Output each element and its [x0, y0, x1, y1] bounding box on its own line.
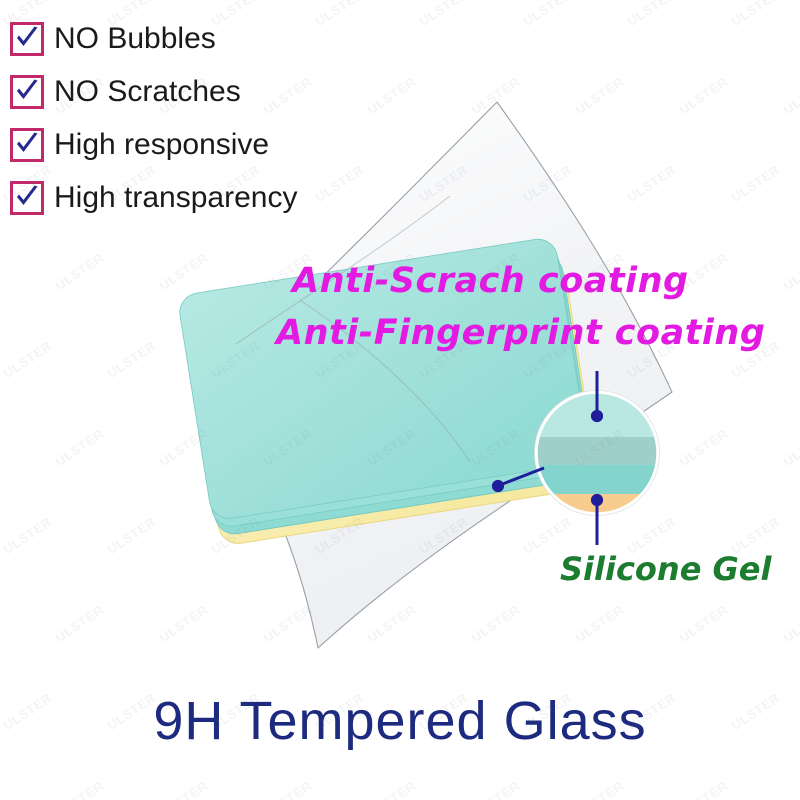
leader-dot-edge: [492, 480, 503, 491]
feature-item-2: High responsive: [10, 118, 297, 171]
checkmark-icon: [10, 128, 44, 162]
checkmark-icon: [10, 181, 44, 215]
magnifier-glass-band: [530, 437, 670, 465]
checkmark-icon: [10, 22, 44, 56]
product-graphic: NO Bubbles NO Scratches High responsive: [0, 0, 800, 800]
feature-label: NO Bubbles: [54, 24, 216, 54]
magnifier-cross-section: [530, 385, 670, 554]
feature-label: High transparency: [54, 183, 297, 213]
checkmark-icon: [10, 75, 44, 109]
magnifier-oleophobic-band: [530, 465, 670, 494]
feature-label: NO Scratches: [54, 77, 241, 107]
page-title: 9H Tempered Glass: [0, 690, 800, 752]
anti-fingerprint-coating-label: Anti-Fingerprint coating: [276, 313, 765, 353]
leader-dot-top: [591, 410, 602, 421]
feature-item-1: NO Scratches: [10, 65, 297, 118]
feature-item-0: NO Bubbles: [10, 12, 297, 65]
anti-scratch-coating-label: Anti-Scrach coating: [292, 261, 689, 301]
feature-item-3: High transparency: [10, 171, 297, 224]
silicone-gel-label: Silicone Gel: [560, 550, 771, 588]
feature-label: High responsive: [54, 130, 269, 160]
leader-dot-bottom: [591, 494, 602, 505]
feature-checklist: NO Bubbles NO Scratches High responsive: [10, 12, 297, 224]
